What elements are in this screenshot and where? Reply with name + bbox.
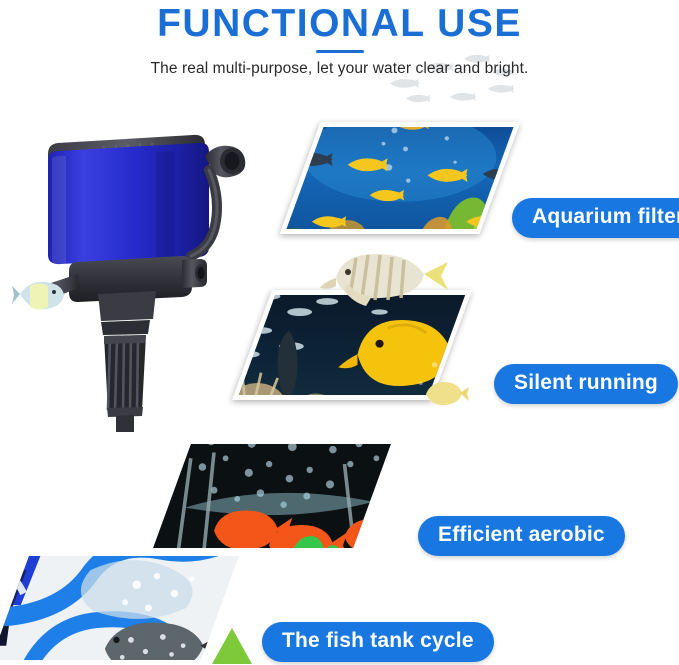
- product-image-pump: [6, 112, 256, 432]
- photo-frame: [0, 556, 239, 660]
- infographic-canvas: FUNCTIONAL USE: [0, 0, 679, 665]
- feature-photo-4: [10, 556, 220, 660]
- photo-frame: [280, 122, 521, 234]
- photo-frame: [153, 444, 391, 548]
- decorative-yellow-fish-small: [420, 378, 470, 410]
- fish-school-decoration: [380, 48, 530, 110]
- feature-badge-fish-tank-cycle[interactable]: The fish tank cycle: [262, 622, 494, 662]
- feature-photo-1: [300, 122, 500, 234]
- decorative-green-triangle: [212, 628, 252, 664]
- photo-aquarium-reef-tank: [286, 127, 513, 229]
- feature-photo-3: [172, 444, 372, 548]
- decorative-striped-butterflyfish: [318, 246, 450, 312]
- feature-badge-silent-running[interactable]: Silent running: [494, 364, 678, 404]
- photo-aerated-tank-goldfish: [153, 444, 391, 548]
- title-divider: [316, 50, 364, 53]
- page-title: FUNCTIONAL USE: [0, 2, 679, 46]
- decorative-blue-tang-fish: [12, 282, 64, 310]
- photo-water-flow-cycle: [0, 556, 239, 660]
- feature-badge-aquarium-filter[interactable]: Aquarium filter: [512, 198, 679, 238]
- feature-badge-efficient-aerobic[interactable]: Efficient aerobic: [418, 516, 625, 556]
- page-subtitle: The real multi-purpose, let your water c…: [0, 60, 679, 78]
